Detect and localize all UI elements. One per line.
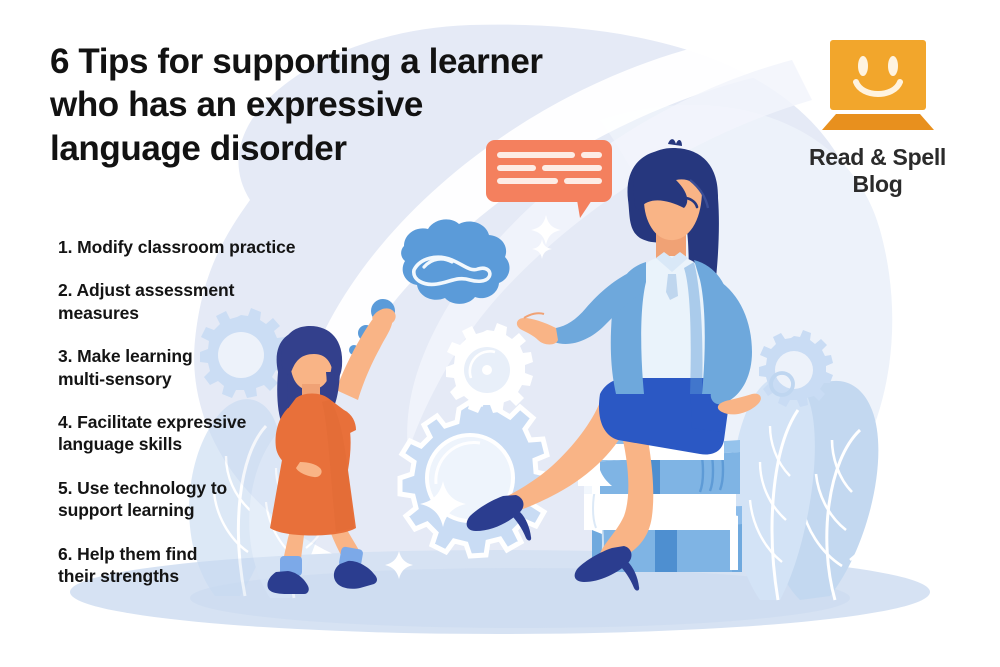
brand-logo[interactable]: Read & Spell Blog (770, 38, 985, 198)
tip-item-4: 4. Facilitate expressive language skills (58, 411, 368, 456)
infographic-canvas: 6 Tips for supporting a learner who has … (0, 0, 1000, 667)
page-title: 6 Tips for supporting a learner who has … (50, 40, 650, 170)
tip-item-6: 6. Help them find their strengths (58, 543, 368, 588)
tip-item-2: 2. Adjust assessment measures (58, 279, 368, 324)
tip-item-3: 3. Make learning multi-sensory (58, 345, 368, 390)
tips-list: 1. Modify classroom practice 2. Adjust a… (58, 236, 368, 608)
tip-item-5: 5. Use technology to support learning (58, 477, 368, 522)
smiling-laptop-icon (814, 38, 942, 134)
tip-item-1: 1. Modify classroom practice (58, 236, 368, 258)
brand-logo-text: Read & Spell Blog (770, 144, 985, 198)
